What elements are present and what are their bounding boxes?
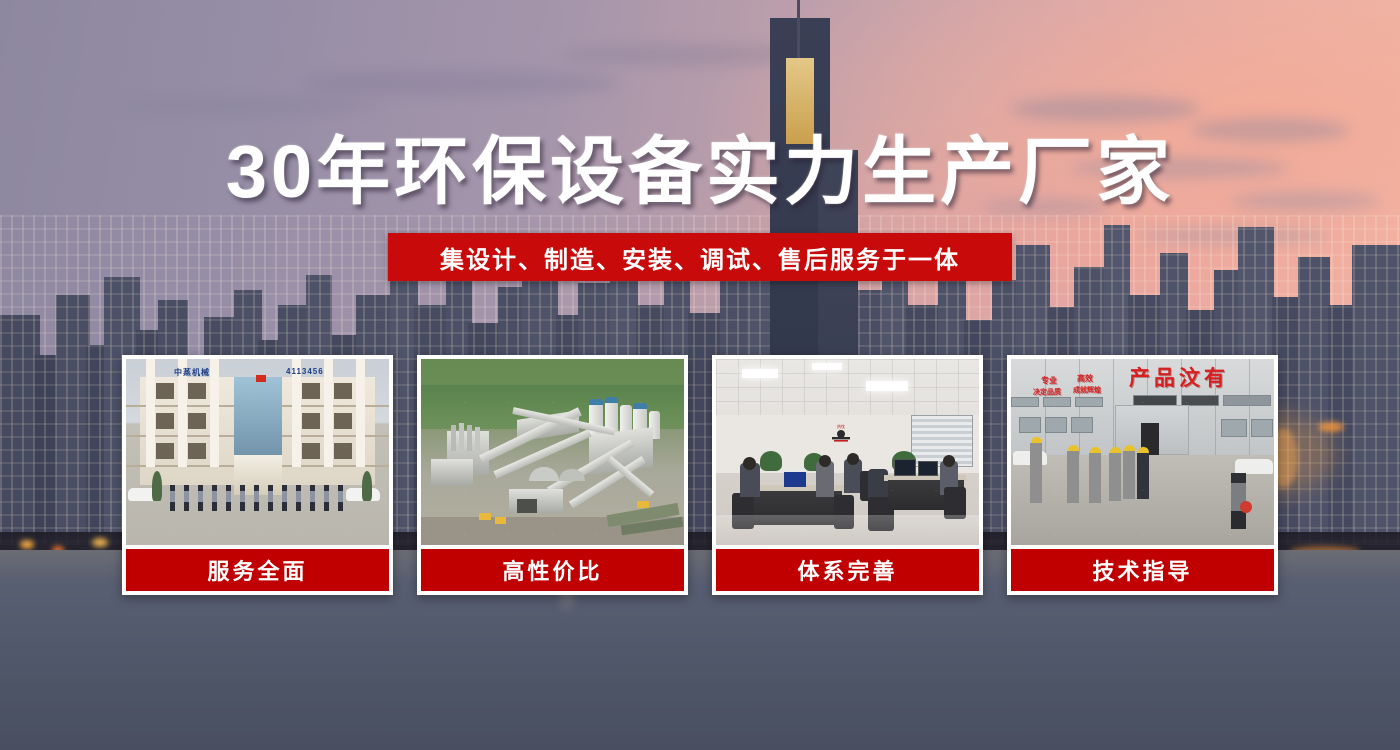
red-helmet-held bbox=[1240, 501, 1252, 513]
photo-workers-factory: 产品汶有 专业 高效 决定品质 成就辉煌 bbox=[1011, 359, 1274, 545]
factory-sign-large: 产品汶有 bbox=[1129, 362, 1229, 392]
page-title: 30年环保设备实力生产厂家 bbox=[0, 132, 1400, 212]
building-phone-text: 4113456 bbox=[286, 367, 324, 376]
card-caption: 高性价比 bbox=[421, 549, 684, 591]
building-sign-text: 中蒸机械 bbox=[174, 367, 210, 378]
factory-sign-small-4: 成就辉煌 bbox=[1073, 385, 1101, 395]
feature-card-value[interactable]: 高性价比 bbox=[417, 355, 688, 595]
subtitle-banner: 集设计、制造、安装、调试、售后服务于一体 bbox=[388, 233, 1012, 281]
feature-card-training[interactable]: 产品汶有 专业 高效 决定品质 成就辉煌 bbox=[1007, 355, 1278, 595]
factory-sign-small-1: 专业 bbox=[1041, 375, 1057, 386]
factory-sign-small-2: 高效 bbox=[1077, 373, 1093, 384]
wall-logo-icon: 热忱 bbox=[828, 421, 854, 443]
card-caption: 技术指导 bbox=[1011, 549, 1274, 591]
factory-sign-small-3: 决定品质 bbox=[1033, 387, 1061, 397]
banner-stage: 30年环保设备实力生产厂家 集设计、制造、安装、调试、售后服务于一体 bbox=[0, 0, 1400, 750]
card-caption: 体系完善 bbox=[716, 549, 979, 591]
card-caption: 服务全面 bbox=[126, 549, 389, 591]
svg-text:热忱: 热忱 bbox=[837, 423, 845, 429]
subtitle-text: 集设计、制造、安装、调试、售后服务于一体 bbox=[440, 240, 960, 275]
photo-headquarters-building: 中蒸机械 4113456 bbox=[126, 359, 389, 545]
photo-industrial-plant-aerial bbox=[421, 359, 684, 545]
feature-card-service[interactable]: 中蒸机械 4113456 bbox=[122, 355, 393, 595]
feature-card-list: 中蒸机械 4113456 bbox=[122, 355, 1278, 595]
feature-card-system[interactable]: 热忱 bbox=[712, 355, 983, 595]
photo-office-interior: 热忱 bbox=[716, 359, 979, 545]
